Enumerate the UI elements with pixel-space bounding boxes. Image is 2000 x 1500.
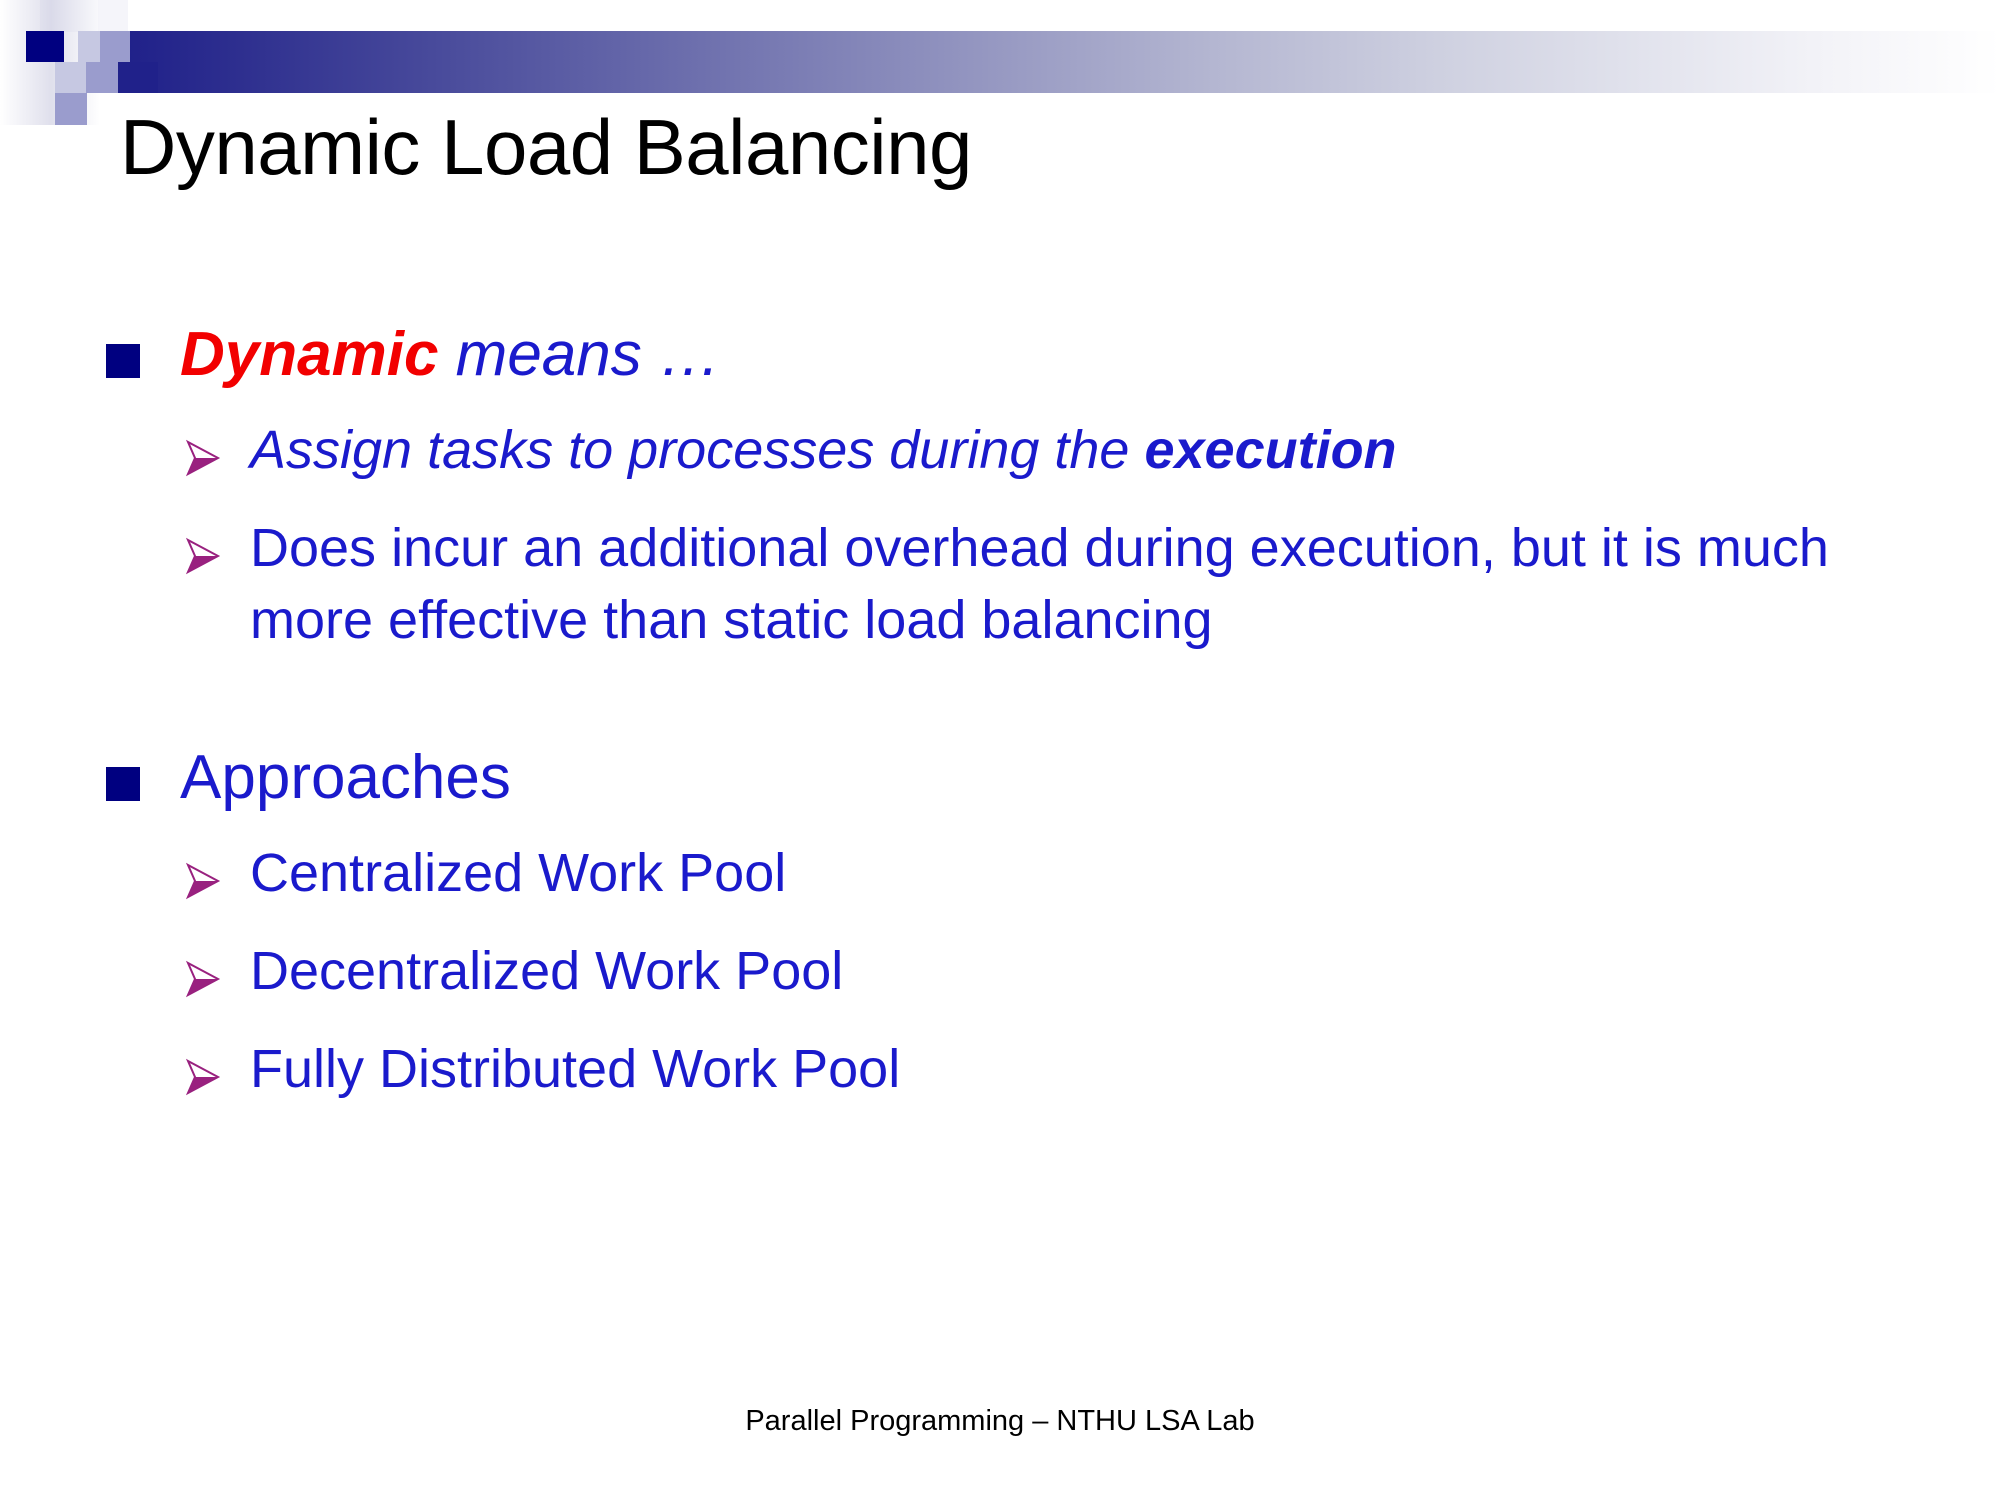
slide-footer: Parallel Programming – NTHU LSA Lab bbox=[0, 1405, 2000, 1438]
arrow-bullet-icon bbox=[178, 1048, 226, 1096]
bullet-text: Fully Distributed Work Pool bbox=[250, 1039, 900, 1099]
deco-square-mid-r3 bbox=[86, 62, 118, 93]
deco-square-mid-r4 bbox=[55, 93, 87, 125]
bullet-text: Centralized Work Pool bbox=[250, 843, 786, 903]
bullet-text: Decentralized Work Pool bbox=[250, 941, 843, 1001]
bullet-level2-decentralized-work-pool: Decentralized Work Pool bbox=[100, 936, 1920, 1008]
arrow-bullet-icon bbox=[178, 527, 226, 575]
deco-square-dark-r3 bbox=[118, 62, 158, 93]
header-gradient-bar bbox=[128, 31, 2000, 93]
arrow-bullet-icon bbox=[178, 852, 226, 900]
bullet-level2-fully-distributed-work-pool: Fully Distributed Work Pool bbox=[100, 1034, 1920, 1106]
heading-emphasis-dynamic: Dynamic bbox=[180, 320, 438, 389]
bullet-level2-centralized-work-pool: Centralized Work Pool bbox=[100, 838, 1920, 910]
bullet-level1-approaches: Approaches bbox=[100, 743, 1920, 812]
arrow-bullet-icon bbox=[178, 950, 226, 998]
section-spacer bbox=[100, 657, 1920, 743]
arrow-bullet-icon bbox=[178, 429, 226, 477]
bullet-text-bold: execution bbox=[1144, 420, 1396, 480]
bullet-level2-assign-tasks: Assign tasks to processes during the exe… bbox=[100, 415, 1920, 487]
slide-title: Dynamic Load Balancing bbox=[120, 108, 1880, 186]
heading-rest-means: means … bbox=[438, 320, 721, 389]
bullet-level1-dynamic-means: Dynamic means … bbox=[100, 320, 1920, 389]
deco-square-navy bbox=[26, 31, 64, 62]
slide-body: Dynamic means … Assign tasks to processe… bbox=[100, 320, 1920, 1106]
deco-square-mid-r2 bbox=[100, 31, 130, 62]
deco-square-light-r3 bbox=[55, 62, 87, 93]
square-bullet-icon bbox=[106, 344, 140, 378]
bullet-text: Does incur an additional overhead during… bbox=[250, 518, 1829, 650]
heading-approaches: Approaches bbox=[180, 743, 511, 812]
bullet-text-before: Assign tasks to processes during the bbox=[250, 420, 1144, 480]
bullet-level2-overhead: Does incur an additional overhead during… bbox=[100, 513, 1920, 657]
square-bullet-icon bbox=[106, 767, 140, 801]
slide: Dynamic Load Balancing Dynamic means … A… bbox=[0, 0, 2000, 1500]
